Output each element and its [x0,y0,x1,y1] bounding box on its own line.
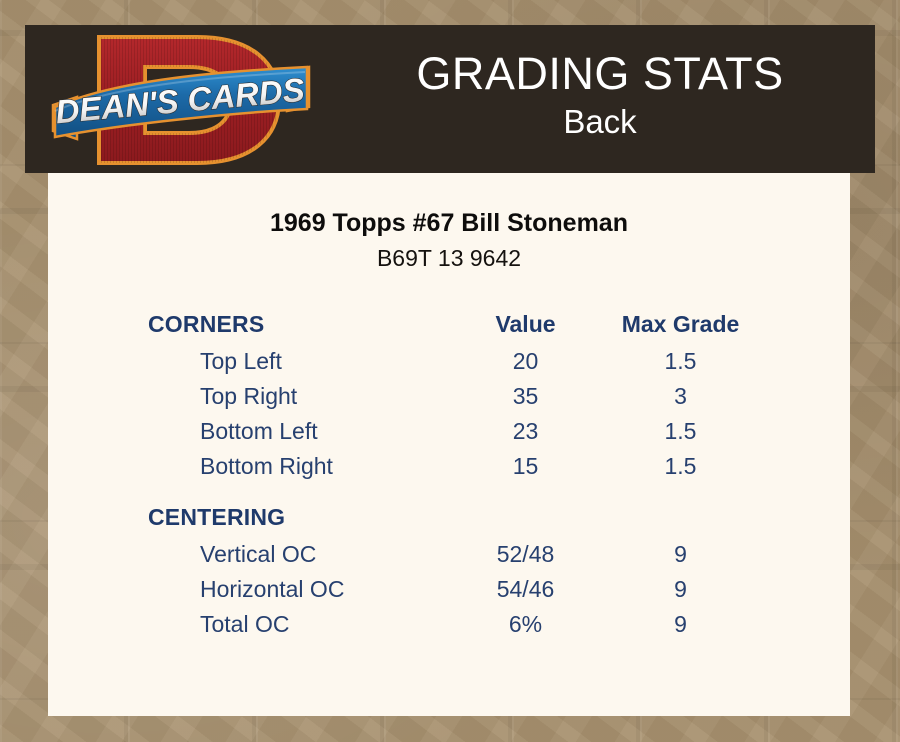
stats-section: CORNERSValueMax GradeTop Left201.5Top Ri… [148,311,850,502]
stat-max-grade: 3 [603,383,758,410]
stat-value: 6% [448,611,603,638]
card-title: 1969 Topps #67 Bill Stoneman [48,209,850,238]
stat-max-grade: 1.5 [603,348,758,375]
stat-max-grade: 1.5 [603,453,758,480]
header-title-group: GRADING STATS Back [325,25,875,173]
stat-max-grade: 9 [603,611,758,638]
section-header-row: CORNERSValueMax Grade [148,311,850,348]
table-row: Horizontal OC54/469 [148,576,850,611]
section-header-row: CENTERING [148,504,850,541]
stat-label: Top Right [148,383,448,410]
table-row: Top Left201.5 [148,348,850,383]
stat-value: 54/46 [448,576,603,603]
stat-label: Vertical OC [148,541,448,568]
table-row: Bottom Left231.5 [148,418,850,453]
stat-max-grade: 9 [603,576,758,603]
page-title: GRADING STATS [416,51,783,97]
content-panel: 1969 Topps #67 Bill Stoneman B69T 13 964… [48,173,850,716]
table-row: Vertical OC52/489 [148,541,850,576]
stat-label: Total OC [148,611,448,638]
page-subtitle: Back [563,101,636,142]
stat-label: Bottom Right [148,453,448,480]
stat-max-grade: 9 [603,541,758,568]
section-title: CENTERING [148,504,448,531]
stats-section: CENTERINGVertical OC52/489Horizontal OC5… [148,504,850,646]
table-row: Bottom Right151.5 [148,453,850,488]
column-header-value: Value [448,311,603,338]
header-bar: DEAN'S CARDS GRADING STATS Back [25,25,875,173]
stat-label: Horizontal OC [148,576,448,603]
column-header-max-grade: Max Grade [603,311,758,338]
grading-stats-table: CORNERSValueMax GradeTop Left201.5Top Ri… [148,311,850,648]
section-title: CORNERS [148,311,448,338]
stat-max-grade: 1.5 [603,418,758,445]
table-row: Top Right353 [148,383,850,418]
stat-value: 15 [448,453,603,480]
stat-value: 35 [448,383,603,410]
stat-label: Top Left [148,348,448,375]
stat-value: 52/48 [448,541,603,568]
card-serial-number: B69T 13 9642 [48,245,850,272]
stat-value: 23 [448,418,603,445]
deans-cards-logo[interactable]: DEAN'S CARDS [47,27,315,173]
stat-label: Bottom Left [148,418,448,445]
section-spacer [148,488,850,502]
stat-value: 20 [448,348,603,375]
table-row: Total OC6%9 [148,611,850,646]
